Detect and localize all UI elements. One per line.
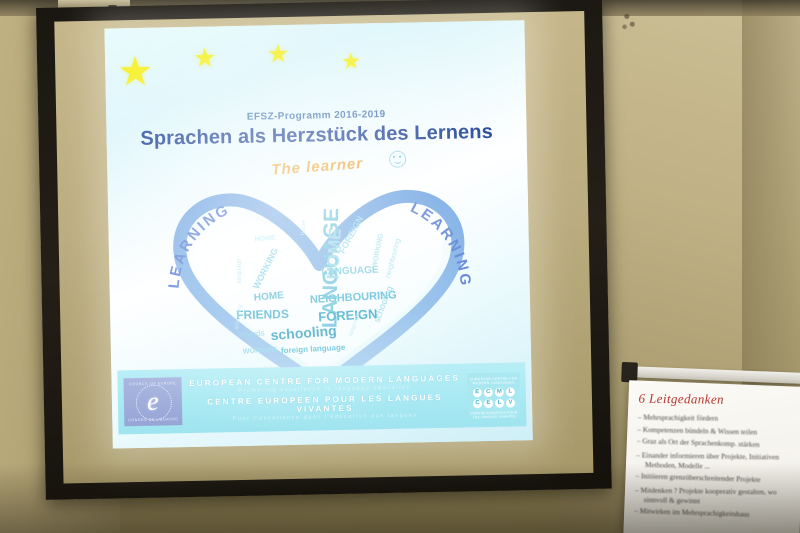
eu-star-icon: ★ bbox=[267, 42, 290, 67]
ecml-letters-bottom: CELV bbox=[468, 398, 520, 408]
ecml-letter-badge: V bbox=[506, 398, 515, 407]
word-cloud-term: schooling bbox=[270, 322, 337, 343]
ecml-letter-badge: E bbox=[484, 398, 493, 407]
eu-star-icon: ★ bbox=[193, 44, 217, 70]
eu-star-icon: ★ bbox=[341, 50, 361, 72]
wall-corner-shadow bbox=[742, 0, 800, 400]
ecml-logo-caption: EUROPEAN CENTRE FOR MODERN LANGUAGES bbox=[468, 376, 520, 386]
ecml-letter-badge: L bbox=[495, 398, 504, 407]
word-cloud-term: neighbouring bbox=[385, 238, 402, 279]
word-cloud-term: FRIENDS bbox=[236, 307, 289, 322]
wall-mark bbox=[618, 6, 640, 32]
floor-shadow bbox=[0, 463, 800, 533]
slide-footer: COUNCIL OF EUROPE e CONSEIL DE L'EUROPE … bbox=[117, 362, 526, 434]
ecml-letters-top: ECML bbox=[468, 387, 520, 397]
projection-screen: ★ ★ ★ ★ EFSZ-Programm 2016-2019 Sprachen… bbox=[36, 0, 618, 508]
flipchart-line: – Einander informieren über Projekte, In… bbox=[636, 451, 796, 461]
coe-bottom-label: CONSEIL DE L'EUROPE bbox=[124, 417, 182, 422]
word-cloud-term: WORKING bbox=[243, 347, 278, 356]
flipchart-line: – Graz als Ort der Sprachenkomp. stärken bbox=[637, 437, 797, 450]
word-cloud-term: LANGUAGE bbox=[321, 265, 379, 278]
ecml-letter-badge: C bbox=[484, 387, 493, 396]
word-cloud-term: WORKING bbox=[251, 246, 280, 290]
ecml-letter-badge: M bbox=[495, 387, 504, 396]
ecml-letter-badge: C bbox=[473, 399, 482, 408]
room-photo: ★ ★ ★ ★ EFSZ-Programm 2016-2019 Sprachen… bbox=[0, 0, 800, 533]
ecml-logo-footer: CENTRE EUROPEEN POUR LES LANGUES VIVANTE… bbox=[468, 410, 520, 419]
ecml-logo: EUROPEAN CENTRE FOR MODERN LANGUAGES ECM… bbox=[467, 372, 520, 417]
word-cloud-term: language bbox=[236, 259, 242, 284]
word-cloud-term: HOME bbox=[254, 235, 276, 244]
ecml-footer-text: EUROPEAN CENTRE FOR MODERN LANGUAGES Pro… bbox=[181, 373, 468, 423]
word-cloud-term: home bbox=[300, 220, 307, 235]
word-cloud-term: FOREIGN bbox=[318, 306, 378, 324]
word-cloud-term: HOME bbox=[253, 290, 284, 304]
word-cloud-term: friends bbox=[240, 328, 265, 340]
eu-star-icon: ★ bbox=[117, 52, 154, 93]
coe-stars-icon bbox=[136, 384, 173, 421]
flipchart-line: – Kompetenzen bündeln & Wissen teilen bbox=[637, 425, 797, 436]
ecml-letter-badge: L bbox=[506, 387, 515, 396]
ecml-letter-badge: E bbox=[473, 388, 482, 397]
word-cloud-term: foreign language bbox=[281, 343, 346, 356]
projected-slide: ★ ★ ★ ★ EFSZ-Programm 2016-2019 Sprachen… bbox=[104, 20, 532, 448]
flipchart-title: 6 Leitgedanken bbox=[638, 391, 798, 409]
flipchart-line: – Mehrsprachigkeit fördern bbox=[638, 414, 798, 424]
word-cloud-term: WORKING bbox=[372, 233, 385, 268]
council-of-europe-logo: COUNCIL OF EUROPE e CONSEIL DE L'EUROPE bbox=[123, 377, 182, 426]
word-cloud: LANGUAGEHOMENEIGHBOURINGFOREIGNFRIENDSsc… bbox=[212, 202, 427, 364]
